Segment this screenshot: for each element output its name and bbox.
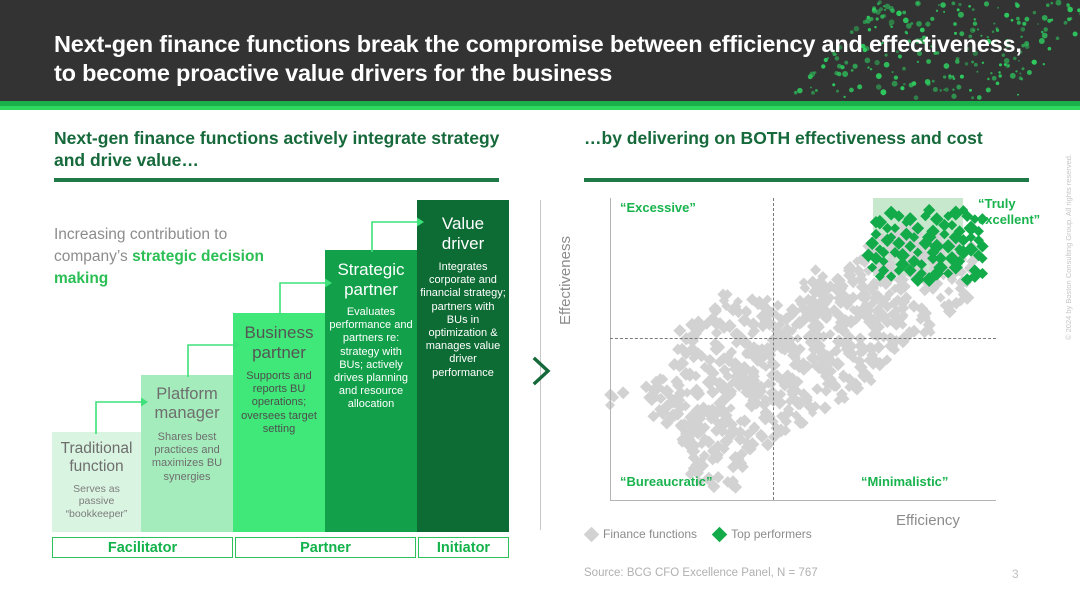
category-label-text: Facilitator (108, 540, 177, 556)
staircase-bar-title: Value driver (420, 214, 506, 254)
staircase-bar-description: Serves as passive “bookkeeper” (55, 483, 138, 521)
legend-label-top-performers: Top performers (731, 527, 812, 541)
scatter-points (576, 190, 996, 520)
diamond-marker-gray-icon (584, 526, 600, 542)
x-axis-title: Efficiency (896, 512, 960, 529)
staircase-bar-title: Business partner (236, 323, 322, 363)
source-note: Source: BCG CFO Excellence Panel, N = 76… (584, 567, 818, 579)
staircase-bar-1: Traditional functionServes as passive “b… (52, 432, 141, 532)
staircase-diagram: Traditional functionServes as passive “b… (0, 0, 540, 608)
category-label-initiator[interactable]: Initiator (418, 537, 509, 558)
category-label-text: Initiator (437, 540, 490, 556)
quadrant-divider-vertical (773, 198, 774, 500)
staircase-bar-description: Shares best practices and maximizes BU s… (144, 431, 230, 484)
legend-label-finance-functions: Finance functions (603, 527, 697, 541)
scatter-chart: “Excessive” “Bureaucratic” “Minimalistic… (576, 190, 996, 520)
legend-item-top-performers: Top performers (714, 527, 812, 541)
quadrant-label-bureaucratic: “Bureaucratic” (620, 474, 712, 489)
staircase-bar-2: Platform managerShares best practices an… (141, 375, 233, 532)
copyright-note: © 2024 by Boston Consulting Group. All r… (1064, 154, 1073, 340)
staircase-bar-title: Platform manager (144, 385, 230, 424)
staircase-bar-title: Traditional function (55, 440, 138, 477)
diamond-marker-green-icon (712, 526, 728, 542)
quadrant-label-truly-excellent: “Truly excellent” (978, 196, 1058, 228)
series-top-performers (862, 204, 989, 287)
staircase-bar-5: Value driverIntegrates corporate and fin… (417, 200, 509, 532)
y-axis-line (610, 198, 611, 500)
x-axis-line (610, 500, 996, 501)
staircase-bar-4: Strategic partnerEvaluates performance a… (325, 250, 417, 532)
chevron-right-icon (531, 355, 553, 387)
quadrant-divider-horizontal (610, 338, 996, 339)
category-label-text: Partner (300, 540, 351, 556)
right-panel-rule (584, 178, 1029, 182)
category-label-partner[interactable]: Partner (235, 537, 416, 558)
page-number: 3 (1012, 567, 1019, 581)
staircase-bar-3: Business partnerSupports and reports BU … (233, 313, 325, 532)
staircase-bar-title: Strategic partner (328, 260, 414, 300)
quadrant-label-minimalistic: “Minimalistic” (861, 474, 948, 489)
category-label-facilitator[interactable]: Facilitator (52, 537, 233, 558)
staircase-bar-description: Evaluates performance and partners re: s… (328, 306, 414, 412)
staircase-bar-description: Integrates corporate and financial strat… (420, 261, 506, 380)
y-axis-title: Effectiveness (557, 236, 574, 325)
quadrant-label-excessive: “Excessive” (620, 200, 696, 215)
chart-legend: Finance functions Top performers (586, 527, 812, 541)
staircase-bar-description: Supports and reports BU operations; over… (236, 370, 322, 436)
legend-item-finance-functions: Finance functions (586, 527, 697, 541)
right-panel-title: …by delivering on BOTH effectiveness and… (584, 127, 1004, 149)
